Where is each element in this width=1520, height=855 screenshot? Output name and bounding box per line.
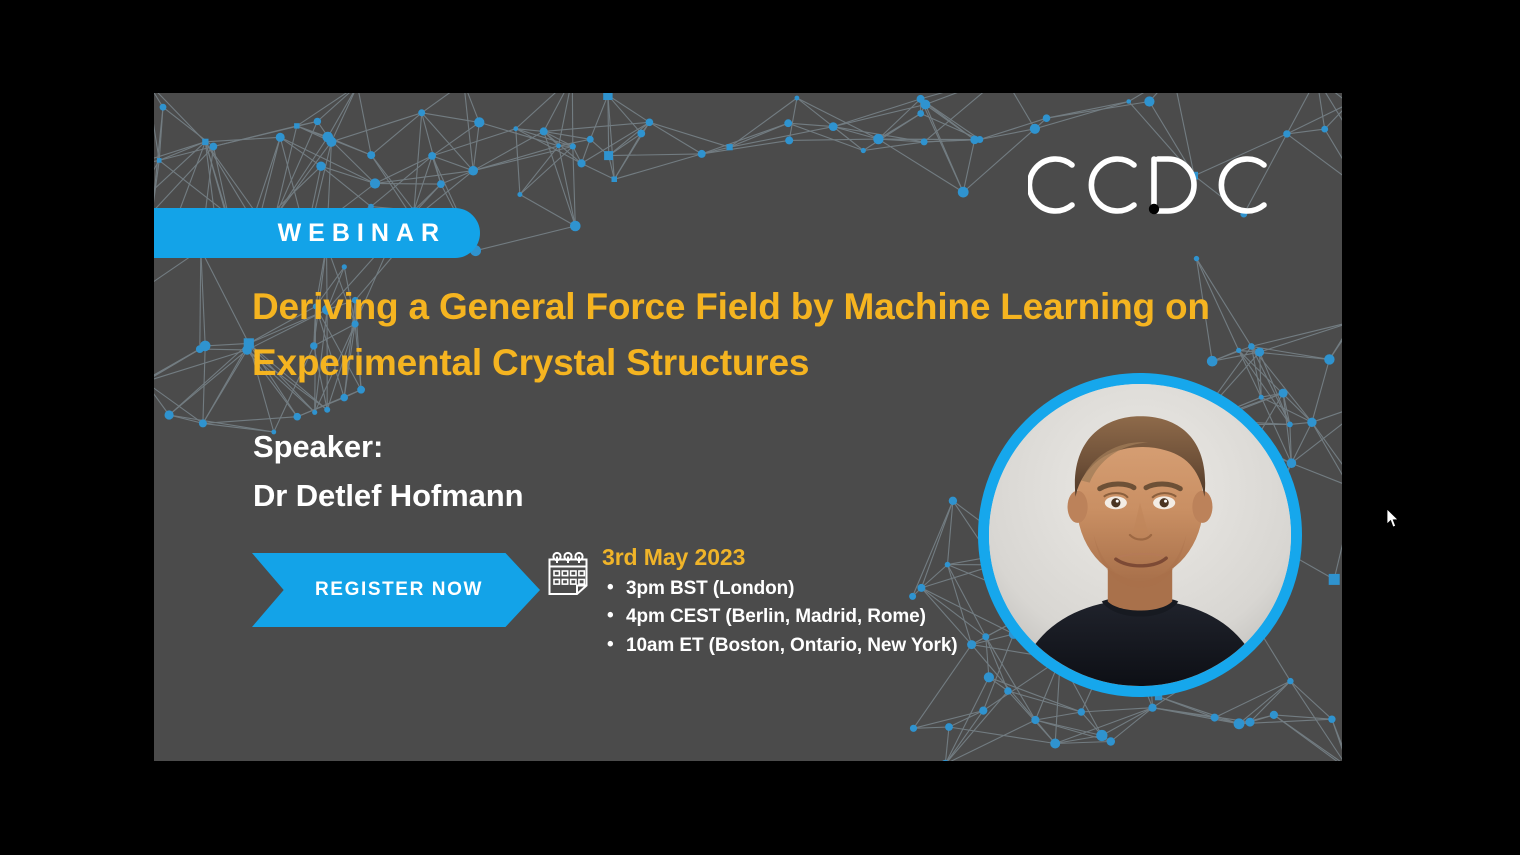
page-title: Deriving a General Force Field by Machin…	[252, 279, 1212, 391]
speaker-label: Speaker:	[253, 423, 523, 472]
speaker-avatar	[978, 373, 1302, 697]
event-time-item: 4pm CEST (Berlin, Madrid, Rome)	[602, 603, 958, 632]
webinar-badge: WEBINAR	[154, 208, 480, 258]
event-times-list: 3pm BST (London)4pm CEST (Berlin, Madrid…	[602, 575, 958, 661]
event-time-item: 10am ET (Boston, Ontario, New York)	[602, 632, 958, 661]
register-now-button[interactable]: REGISTER NOW	[252, 553, 540, 627]
webinar-slide: WEBINAR Deriving a General Force Field b…	[154, 93, 1342, 761]
speaker-name: Dr Detlef Hofmann	[253, 472, 523, 521]
ccdc-logo-dot	[1149, 204, 1159, 214]
mouse-cursor-icon	[1386, 509, 1400, 528]
register-now-label: REGISTER NOW	[309, 579, 483, 601]
calendar-icon	[546, 551, 590, 597]
ccdc-logo	[1028, 145, 1276, 225]
speaker-block: Speaker: Dr Detlef Hofmann	[253, 423, 523, 521]
event-time-item: 3pm BST (London)	[602, 575, 958, 604]
screen-root: WEBINAR Deriving a General Force Field b…	[0, 0, 1520, 855]
event-date: 3rd May 2023	[602, 543, 958, 572]
portrait-photo	[989, 384, 1291, 686]
webinar-badge-label: WEBINAR	[278, 219, 446, 248]
event-details: 3rd May 2023 3pm BST (London)4pm CEST (B…	[546, 543, 958, 660]
event-text: 3rd May 2023 3pm BST (London)4pm CEST (B…	[602, 543, 958, 660]
